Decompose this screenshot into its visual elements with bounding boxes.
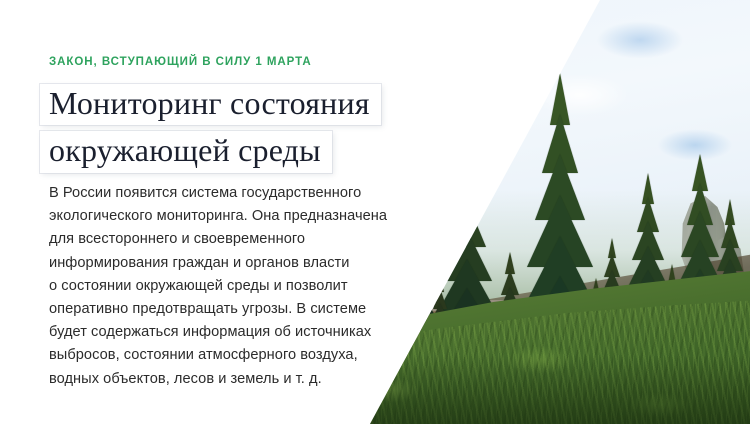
body-paragraph: В России появится система государственно… xyxy=(49,182,434,391)
body-text: В России появится система государственно… xyxy=(49,182,434,391)
text-panel: ЗАКОН, ВСТУПАЮЩИЙ В СИЛУ 1 МАРТА Монитор… xyxy=(0,0,470,424)
eyebrow-label: ЗАКОН, ВСТУПАЮЩИЙ В СИЛУ 1 МАРТА xyxy=(49,56,312,68)
slide-canvas: ЗАКОН, ВСТУПАЮЩИЙ В СИЛУ 1 МАРТА Монитор… xyxy=(0,0,750,424)
headline-line-1: Мониторинг состояния xyxy=(40,84,381,125)
page-title: Мониторинг состояния окружающей среды xyxy=(40,84,381,173)
headline-row: Мониторинг состояния xyxy=(40,84,381,125)
headline-line-2: окружающей среды xyxy=(40,131,332,172)
headline-row: окружающей среды xyxy=(40,131,381,172)
